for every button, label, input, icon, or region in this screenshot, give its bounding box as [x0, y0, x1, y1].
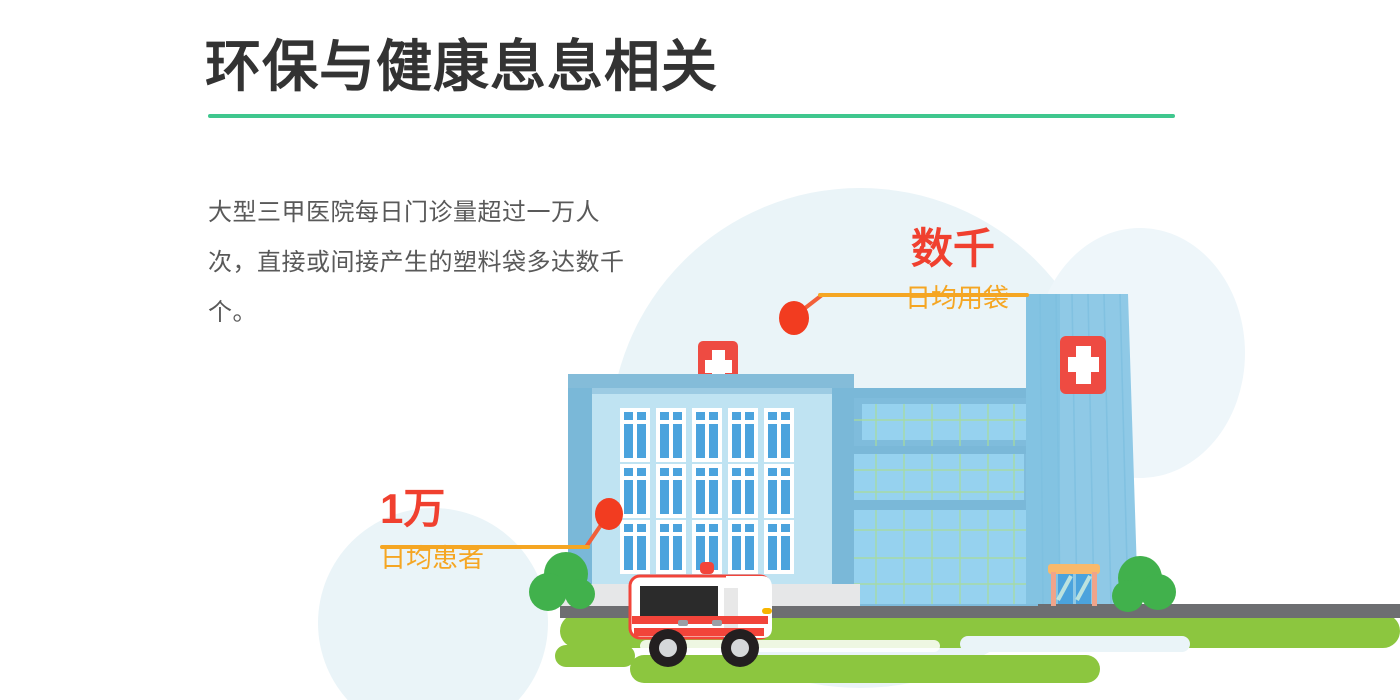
- callout-bags-value: 数千: [911, 228, 1009, 270]
- page-title: 环保与健康息息相关: [205, 22, 718, 103]
- callout-leader-lines: [0, 0, 1400, 700]
- body-paragraph: 大型三甲医院每日门诊量超过一万人次，直接或间接产生的塑料袋多达数千个。: [208, 188, 638, 338]
- leader-dot-bags: [779, 301, 809, 335]
- callout-patients: 1万 日均患者: [380, 488, 484, 575]
- callout-patients-label: 日均患者: [380, 538, 484, 575]
- callout-bags-label: 日均用袋: [905, 278, 1009, 315]
- callout-patients-value: 1万: [380, 488, 484, 530]
- leader-dot-patients: [595, 498, 623, 530]
- callout-bags: 数千 日均用袋: [905, 228, 1009, 315]
- title-underline: [208, 114, 1175, 118]
- slide-canvas: 环保与健康息息相关 大型三甲医院每日门诊量超过一万人次，直接或间接产生的塑料袋多…: [0, 0, 1400, 700]
